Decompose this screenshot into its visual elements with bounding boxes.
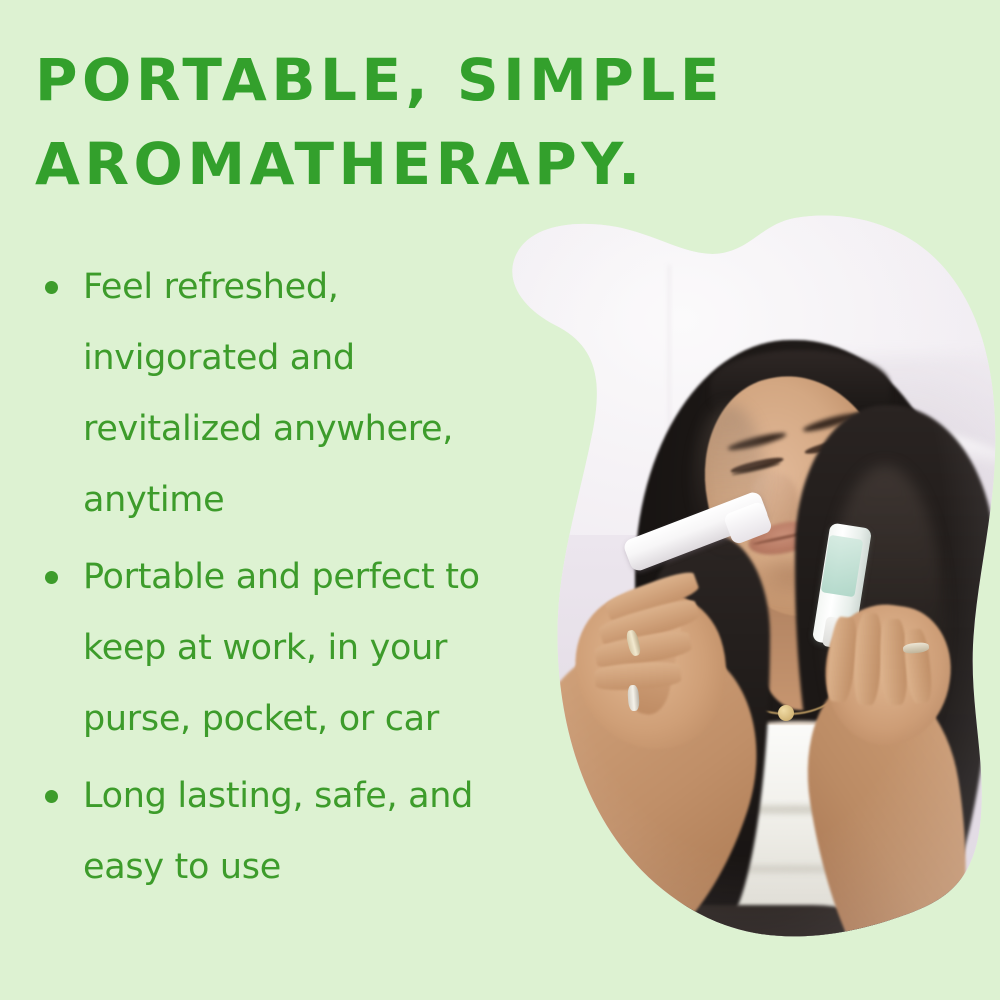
list-item: Feel refreshed, invigorated and revitali… <box>36 252 506 536</box>
bullet-dot-icon <box>45 571 58 584</box>
list-item: Portable and perfect to keep at work, in… <box>36 542 506 755</box>
bullet-dot-icon <box>45 281 58 294</box>
benefits-list: Feel refreshed, invigorated and revitali… <box>36 252 506 909</box>
jeans-fold <box>888 928 987 945</box>
photo-canvas <box>495 205 1000 945</box>
list-item: Long lasting, safe, and easy to use <box>36 761 506 903</box>
necklace-pendant <box>778 705 794 721</box>
product-benefits-poster: Portable, simple aromatherapy. Feel refr… <box>0 0 1000 1000</box>
finger <box>880 619 909 706</box>
page-title: Portable, simple aromatherapy. <box>35 38 735 206</box>
benefit-text: Long lasting, safe, and easy to use <box>83 776 473 887</box>
benefit-text: Portable and perfect to keep at work, in… <box>83 557 480 739</box>
product-lifestyle-photo <box>495 205 1000 945</box>
bullet-dot-icon <box>45 790 58 803</box>
benefit-text: Feel refreshed, invigorated and revitali… <box>83 267 453 520</box>
